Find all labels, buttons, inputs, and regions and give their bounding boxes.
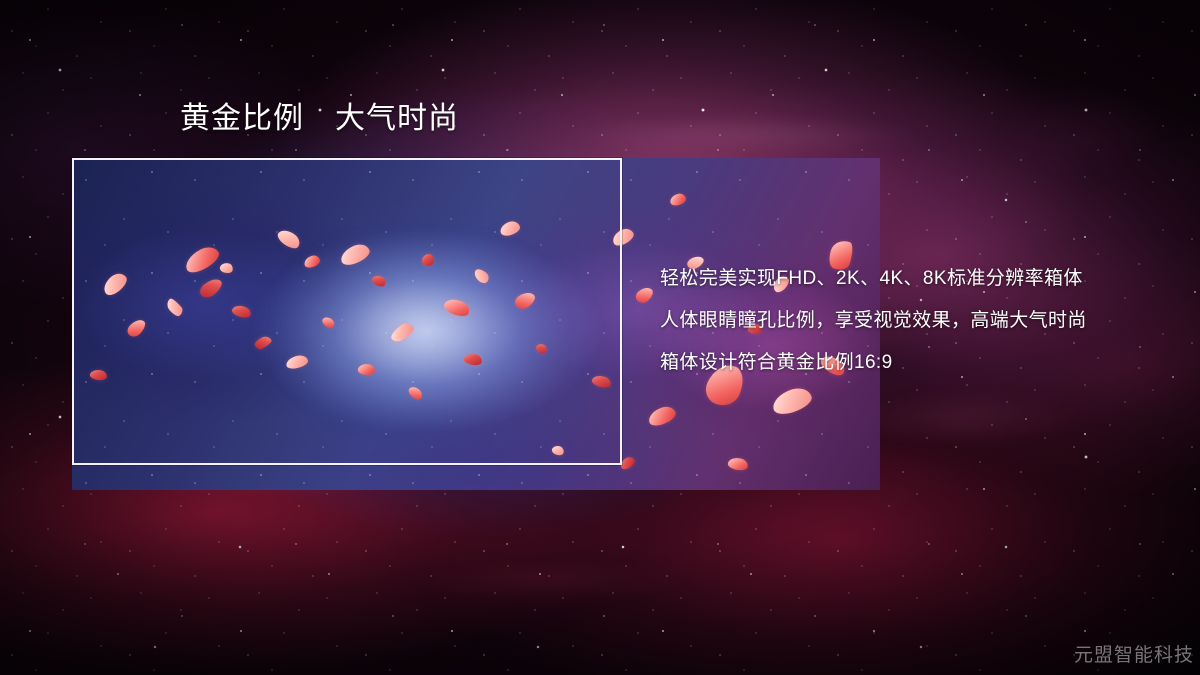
body-text-block: 轻松完美实现FHD、2K、4K、8K标准分辨率箱体 人体眼睛瞳孔比例，享受视觉效… bbox=[660, 258, 1190, 384]
petal bbox=[770, 384, 815, 417]
petal bbox=[669, 192, 687, 207]
presentation-slide: 黄金比例 大气时尚 轻松完美实现FHD、2K、4K、8K标准分辨率箱体 人体眼睛… bbox=[0, 0, 1200, 675]
petal bbox=[727, 456, 749, 472]
watermark: 元盟智能科技 bbox=[1074, 640, 1194, 667]
body-text-line-1: 轻松完美实现FHD、2K、4K、8K标准分辨率箱体 bbox=[660, 258, 1190, 300]
page-title: 黄金比例 大气时尚 bbox=[180, 102, 459, 135]
petal bbox=[633, 284, 655, 306]
petal bbox=[646, 404, 678, 429]
body-text-line-3: 箱体设计符合黄金比例16:9 bbox=[660, 342, 1190, 384]
image-frame-border bbox=[72, 158, 622, 465]
body-text-line-2: 人体眼睛瞳孔比例，享受视觉效果，高端大气时尚 bbox=[660, 300, 1190, 342]
